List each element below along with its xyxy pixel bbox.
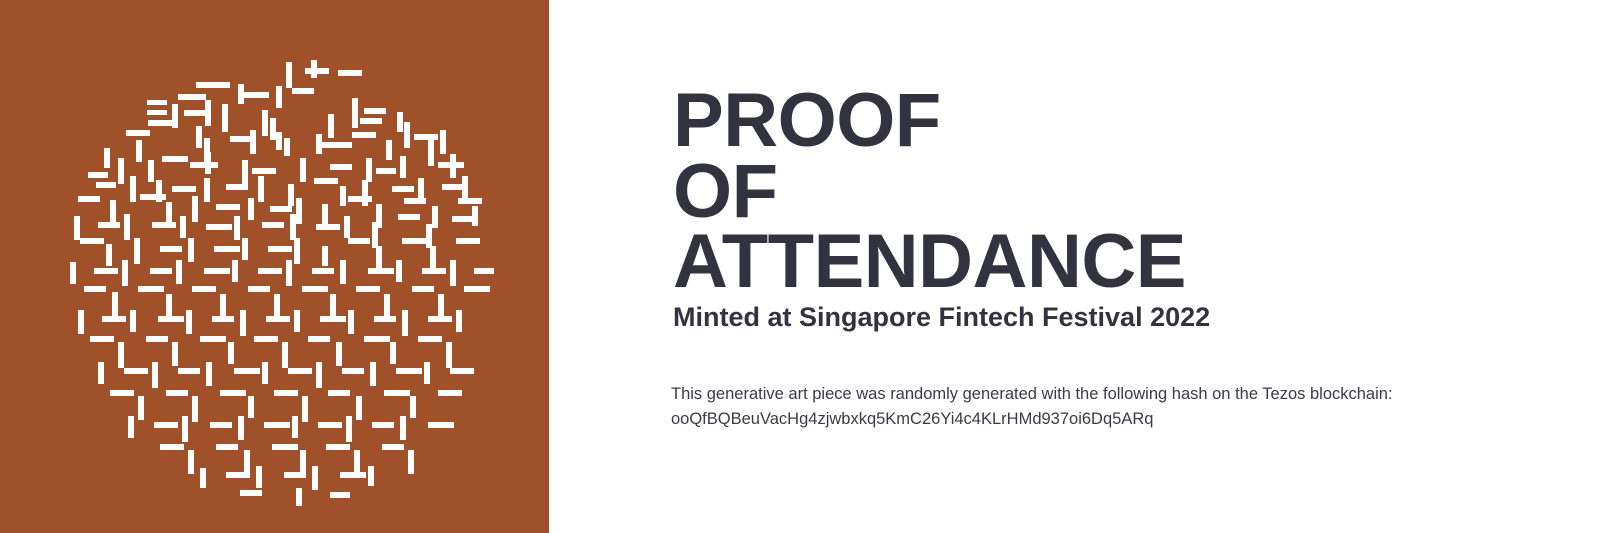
headline-block: PROOF OF ATTENDANCE Minted at Singapore … (673, 86, 1573, 332)
generative-art-dashes (0, 0, 549, 533)
proof-of-attendance-certificate: PROOF OF ATTENDANCE Minted at Singapore … (0, 0, 1600, 533)
hash-description-block: This generative art piece was randomly g… (671, 382, 1551, 432)
headline-line-1: PROOF (673, 86, 1573, 157)
headline-line-2: OF (673, 157, 1573, 228)
headline-line-3: ATTENDANCE (673, 227, 1573, 298)
certificate-text-panel: PROOF OF ATTENDANCE Minted at Singapore … (549, 0, 1600, 533)
hash-description-text: This generative art piece was randomly g… (671, 382, 1551, 407)
generative-art-panel (0, 0, 549, 533)
blockchain-hash-value: ooQfBQBeuVacHg4zjwbxkq5KmC26Yi4c4KLrHMd9… (671, 407, 1551, 432)
certificate-subtitle: Minted at Singapore Fintech Festival 202… (673, 302, 1573, 332)
